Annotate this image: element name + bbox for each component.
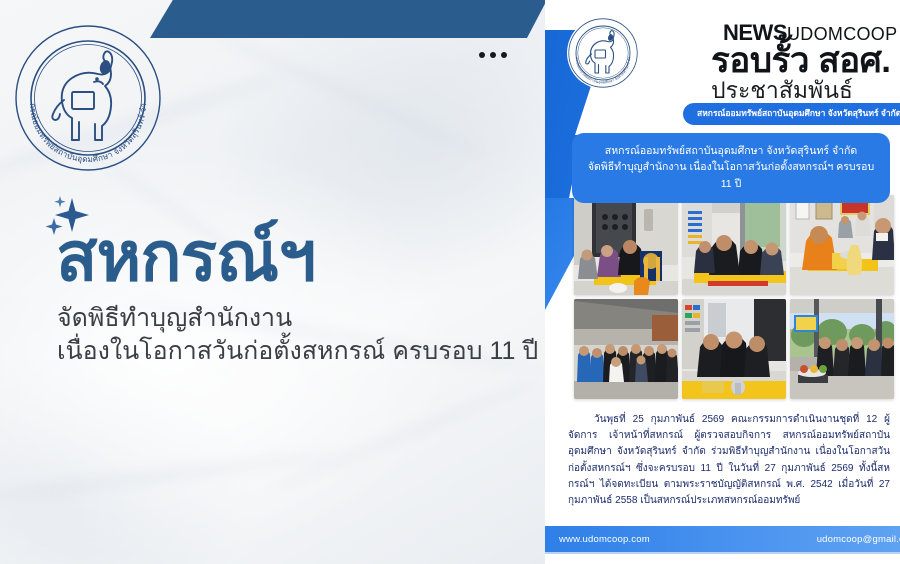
photo-ceremony-lobby[interactable]: [574, 195, 678, 295]
photo-group-outdoor[interactable]: [574, 299, 678, 399]
headline-subtitle: ประชาสัมพันธ์: [711, 78, 853, 102]
photo-staff-wai[interactable]: [790, 299, 894, 399]
description-box: สหกรณ์ออมทรัพย์สถาบันอุดมศึกษา จังหวัดสุ…: [572, 133, 890, 203]
photo-grid: [574, 195, 894, 399]
dot-3: [501, 52, 507, 58]
footer-bar: www.udomcoop.com udomcoop@gmail.c: [545, 526, 900, 552]
footer-website[interactable]: www.udomcoop.com: [559, 534, 650, 545]
headline-title: รอบรั้ว สอศ.: [711, 43, 891, 79]
top-banner-shape: [150, 0, 545, 38]
subtitle-line-2: เนื่องในโอกาสวันก่อตั้งสหกรณ์ ครบรอบ 11 …: [57, 335, 538, 368]
dot-2: [490, 52, 496, 58]
article-body: วันพุธที่ 25 กุมภาพันธ์ 2569 คณะกรรมการด…: [568, 412, 890, 509]
description-line-2: จัดพิธีทำบุญสำนักงาน เนื่องในโอกาสวันก่อ…: [584, 159, 878, 192]
dot-1: [479, 52, 485, 58]
coop-seal-logo: สหกรณ์ออมทรัพย์สถาบันอุดมศึกษา จังหวัดสุ…: [12, 22, 164, 174]
description-line-1: สหกรณ์ออมทรัพย์สถาบันอุดมศึกษา จังหวัดสุ…: [584, 143, 878, 159]
coop-seal-logo-small: สหกรณ์ออมทรัพย์สถาบันอุดมศึกษา จังหวัดสุ…: [566, 16, 640, 90]
subtitle-line-1: จัดพิธีทำบุญสำนักงาน: [57, 304, 292, 332]
footer-underline: [545, 552, 900, 554]
organization-badge: สหกรณ์ออมทรัพย์สถาบันอุดมศึกษา จังหวัดสุ…: [683, 103, 900, 125]
footer-email[interactable]: udomcoop@gmail.c: [817, 534, 900, 545]
photo-staff-praying[interactable]: [682, 195, 786, 295]
page-title: สหกรณ์ฯ: [56, 222, 315, 293]
left-panel: สหกรณ์ออมทรัพย์สถาบันอุดมศึกษา จังหวัดสุ…: [0, 0, 545, 564]
page-subtitle: จัดพิธีทำบุญสำนักงาน เนื่องในโอกาสวันก่อ…: [57, 302, 538, 367]
photo-three-men-mat[interactable]: [682, 299, 786, 399]
photo-monk-blessing[interactable]: [790, 195, 894, 295]
news-graphic-canvas: สหกรณ์ออมทรัพย์สถาบันอุดมศึกษา จังหวัดสุ…: [0, 0, 900, 564]
overflow-menu-icon[interactable]: [479, 52, 507, 58]
